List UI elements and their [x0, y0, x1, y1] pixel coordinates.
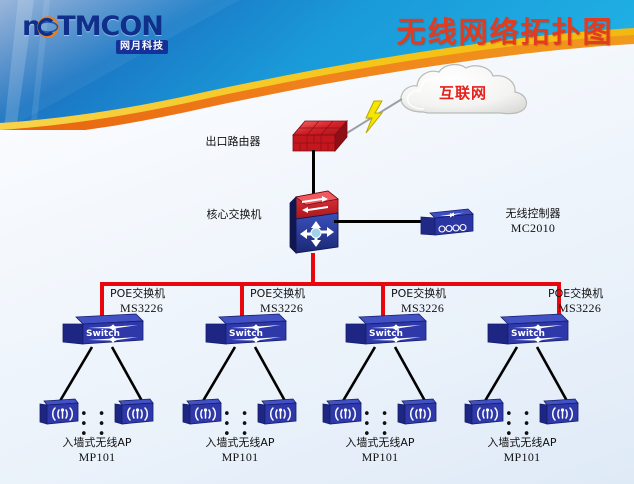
svg-text:Switch: Switch: [86, 329, 120, 339]
logo-subtitle: 网月科技: [116, 40, 168, 54]
poe-bus: [100, 282, 561, 286]
ap-links-group-2: [173, 345, 313, 405]
core-downlink-trunk: [311, 253, 315, 285]
ap-label-3: 入墙式无线AP MP101: [330, 436, 430, 464]
svg-text:Switch: Switch: [229, 329, 263, 339]
internet-cloud-label: 互联网: [388, 82, 538, 103]
ap-icon-3b: [397, 398, 437, 428]
poe-switch-icon-3: Switch: [345, 313, 427, 347]
ap-links-group-3: [313, 345, 453, 405]
ap-label-2: 入墙式无线AP MP101: [190, 436, 290, 464]
ap-icon-1a: [39, 398, 79, 428]
page-title: 无线网络拓扑图: [382, 9, 628, 51]
egress-router-icon: [291, 119, 349, 159]
poe-switch-icon-1: Switch: [62, 313, 144, 347]
ap-icon-4a: [464, 398, 504, 428]
topology-slide: n TMCON 网月科技 无线网络拓扑图: [0, 0, 634, 484]
ap-links-group-1: [30, 345, 170, 405]
poe-switch-icon-2: Switch: [205, 313, 287, 347]
ap-icon-4b: [539, 398, 579, 428]
core-to-wlc-link: [334, 220, 424, 223]
poe-switch-label-4: POE交换机 MS3226: [548, 287, 634, 315]
svg-text:Switch: Switch: [511, 329, 545, 339]
brand-logo: n TMCON 网月科技: [22, 13, 172, 59]
logo-text-tmoon: TMCON: [57, 11, 163, 42]
ap-icon-2b: [257, 398, 297, 428]
core-switch-label: 核心交换机: [186, 208, 282, 222]
ap-icon-2a: [182, 398, 222, 428]
internet-link: [344, 95, 406, 137]
egress-router-label: 出口路由器: [188, 135, 278, 149]
wireless-controller-icon: [420, 208, 474, 238]
svg-text:Switch: Switch: [369, 329, 403, 339]
wireless-controller-label: 无线控制器 MC2010: [478, 207, 588, 235]
poe-switch-label-1: POE交换机 MS3226: [110, 287, 200, 315]
ap-label-1: 入墙式无线AP MP101: [47, 436, 147, 464]
ap-links-group-4: [455, 345, 595, 405]
core-switch-icon: [288, 189, 340, 257]
poe-switch-label-3: POE交换机 MS3226: [391, 287, 481, 315]
logo-wordmark: n TMCON: [22, 13, 172, 41]
router-to-core-link: [312, 150, 315, 194]
logo-ring-icon: [37, 16, 59, 38]
poe-switch-label-2: POE交换机 MS3226: [250, 287, 340, 315]
ap-icon-3a: [322, 398, 362, 428]
ap-label-4: 入墙式无线AP MP101: [472, 436, 572, 464]
ap-icon-1b: [114, 398, 154, 428]
poe-switch-icon-4: Switch: [487, 313, 569, 347]
